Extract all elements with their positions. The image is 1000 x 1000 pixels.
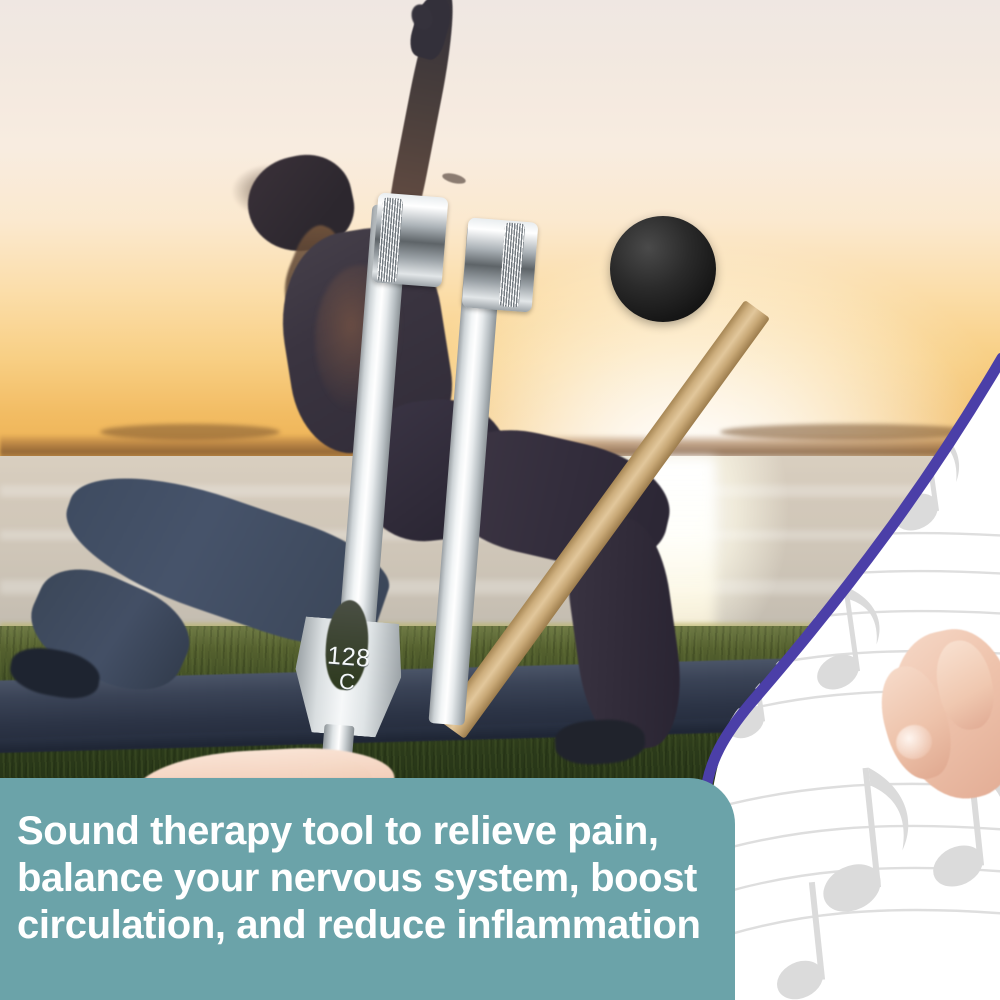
product-image-canvas: 128 C: [0, 0, 1000, 1000]
caption-text: Sound therapy tool to relieve pain, bala…: [17, 808, 709, 948]
caption-banner: Sound therapy tool to relieve pain, bala…: [0, 778, 735, 1000]
